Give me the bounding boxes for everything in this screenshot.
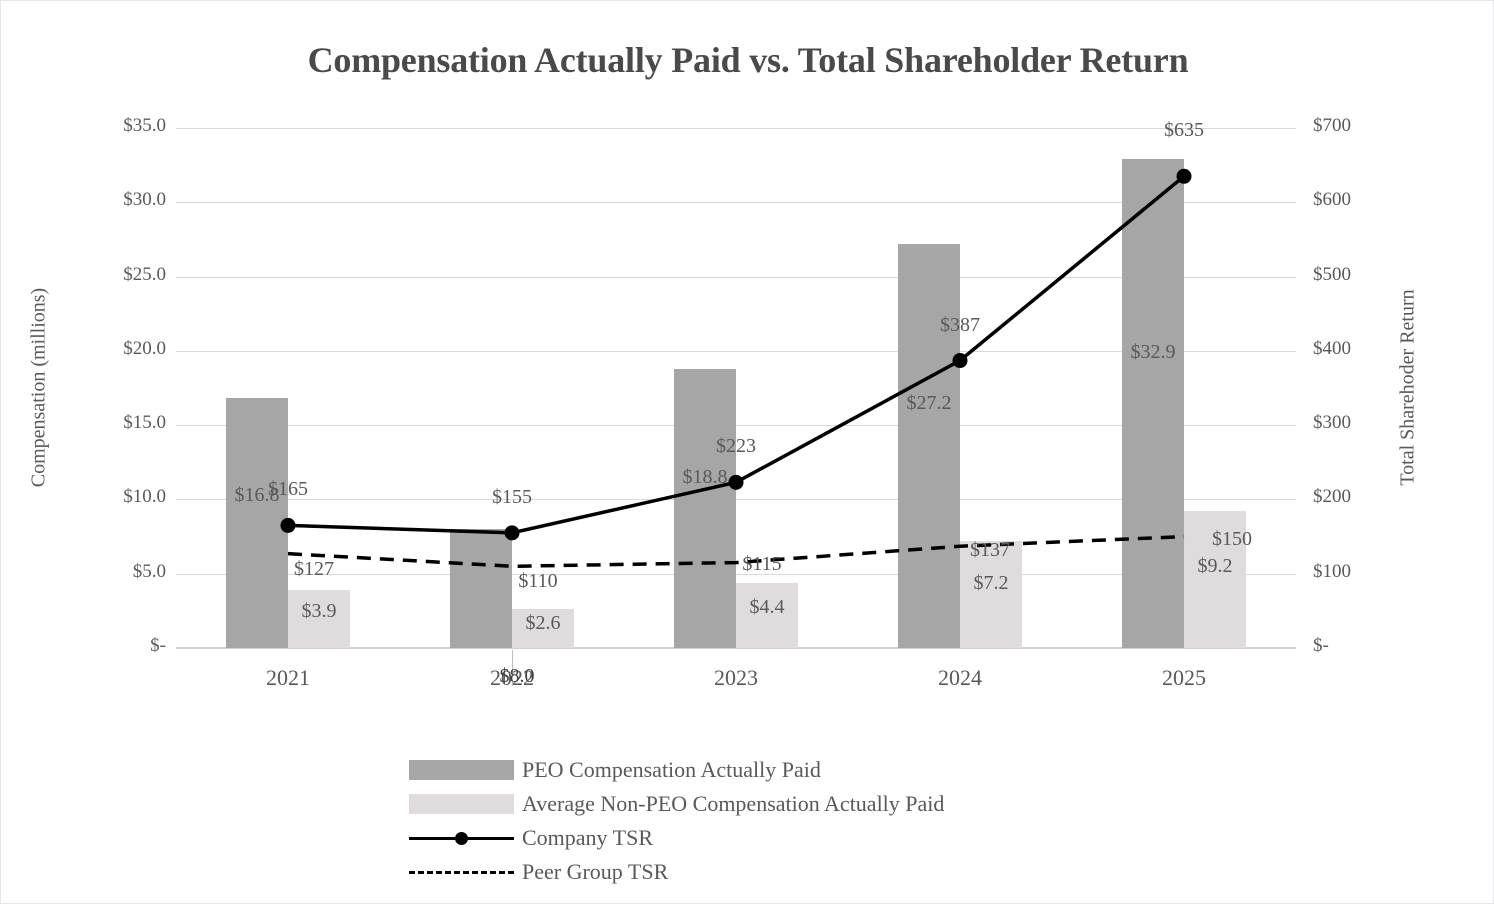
legend-key-icon (409, 760, 514, 780)
y-axis-left-tick-label: $10.0 (76, 486, 166, 508)
y-axis-left-tick-label: $5.0 (76, 561, 166, 583)
data-label-company-tsr-2025: $635 (1124, 119, 1244, 142)
bar-label-nonpeo-2025: $9.2 (1155, 555, 1275, 578)
marker-company-tsr-2025[interactable] (1177, 169, 1192, 184)
x-axis-label-2025: 2025 (1104, 665, 1264, 691)
y-axis-right-tick-label: $100 (1313, 561, 1403, 583)
data-label-peer-group-tsr-2022: $110 (478, 570, 598, 593)
legend-item[interactable]: PEO Compensation Actually Paid (1, 753, 1494, 787)
bar-label-peo-2022: $8.0 (437, 665, 597, 688)
x-axis-label-2024: 2024 (880, 665, 1040, 691)
data-label-company-tsr-2024: $387 (900, 314, 1020, 337)
y-axis-left-tick-label: $- (76, 635, 166, 657)
data-label-company-tsr-2022: $155 (452, 486, 572, 509)
data-label-company-tsr-2021: $165 (228, 478, 348, 501)
legend-key-icon (409, 828, 514, 848)
bar-label-nonpeo-2022: $2.6 (483, 612, 603, 635)
legend-key-icon (409, 862, 514, 882)
chart-title: Compensation Actually Paid vs. Total Sha… (1, 39, 1494, 81)
data-label-peer-group-tsr-2023: $115 (702, 553, 822, 576)
data-label-peer-group-tsr-2021: $127 (254, 558, 374, 581)
legend-label: Company TSR (522, 825, 653, 851)
legend-label: PEO Compensation Actually Paid (522, 757, 821, 783)
y-axis-right-tick-label: $200 (1313, 486, 1403, 508)
chart-legend: PEO Compensation Actually PaidAverage No… (1, 753, 1494, 889)
bar-label-nonpeo-2023: $4.4 (707, 596, 827, 619)
y-axis-left-tick-label: $15.0 (76, 412, 166, 434)
data-label-company-tsr-2023: $223 (676, 435, 796, 458)
bar-label-peo-2025: $32.9 (1093, 341, 1213, 364)
y-axis-left-tick-label: $20.0 (76, 338, 166, 360)
marker-company-tsr-2021[interactable] (281, 518, 296, 533)
y-axis-right-tick-label: $500 (1313, 264, 1403, 286)
y-axis-left-tick-label: $30.0 (76, 189, 166, 211)
y-axis-right-tick-label: $700 (1313, 115, 1403, 137)
y-axis-left-tick-label: $35.0 (76, 115, 166, 137)
y-axis-right-tick-label: $600 (1313, 189, 1403, 211)
y-axis-left-title: Compensation (millions) (28, 238, 51, 538)
chart-container: Compensation Actually Paid vs. Total Sha… (0, 0, 1494, 904)
y-axis-right-tick-label: $- (1313, 635, 1403, 657)
y-axis-right-tick-label: $300 (1313, 412, 1403, 434)
y-axis-left-tick-label: $25.0 (76, 264, 166, 286)
bar-label-nonpeo-2021: $3.9 (259, 600, 379, 623)
bar-label-nonpeo-2024: $7.2 (931, 572, 1051, 595)
legend-key-icon (409, 794, 514, 814)
legend-label: Average Non-PEO Compensation Actually Pa… (522, 791, 944, 817)
y-axis-right-ticks: $-$100$200$300$400$500$600$700 (1313, 128, 1403, 648)
marker-company-tsr-2022[interactable] (505, 525, 520, 540)
bar-label-peo-2024: $27.2 (869, 392, 989, 415)
legend-item[interactable]: Company TSR (1, 821, 1494, 855)
x-axis-label-2021: 2021 (208, 665, 368, 691)
marker-company-tsr-2024[interactable] (953, 353, 968, 368)
y-axis-left-ticks: $-$5.0$10.0$15.0$20.0$25.0$30.0$35.0 (76, 128, 166, 648)
data-label-peer-group-tsr-2024: $137 (930, 539, 1050, 562)
legend-item[interactable]: Average Non-PEO Compensation Actually Pa… (1, 787, 1494, 821)
legend-item[interactable]: Peer Group TSR (1, 855, 1494, 889)
legend-label: Peer Group TSR (522, 859, 668, 885)
x-axis-label-2023: 2023 (656, 665, 816, 691)
bar-label-peo-2023: $18.8 (645, 466, 765, 489)
y-axis-right-tick-label: $400 (1313, 338, 1403, 360)
data-label-peer-group-tsr-2025: $150 (1172, 528, 1292, 551)
